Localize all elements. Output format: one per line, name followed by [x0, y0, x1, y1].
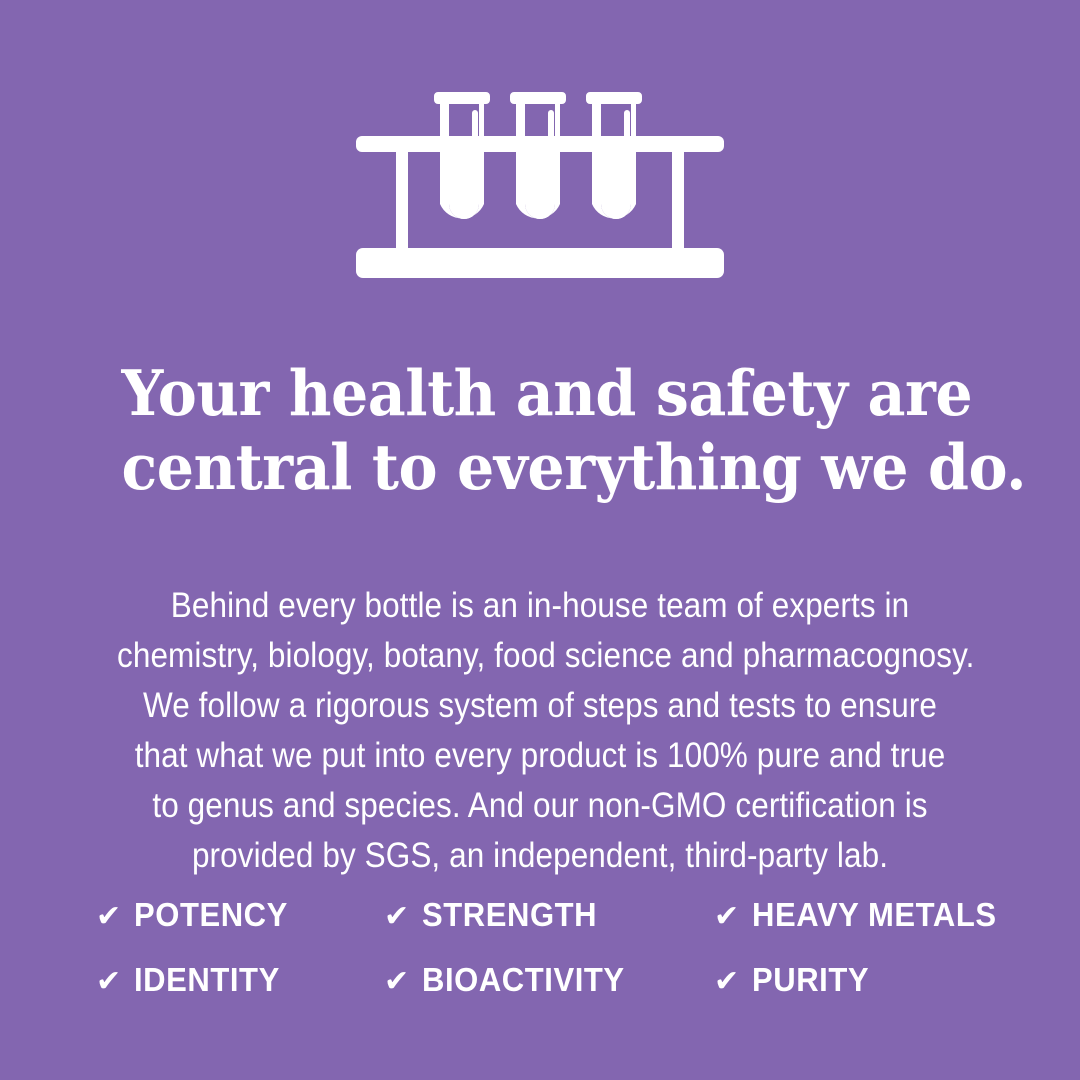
checklist-item-purity: ✔ PURITY — [714, 963, 1008, 997]
checklist-item-bioactivity: ✔ BIOACTIVITY — [384, 963, 714, 997]
headline-line-1: Your health and safety are — [122, 357, 959, 431]
checklist-item-label: STRENGTH — [422, 898, 597, 931]
body-line-3: We follow a rigorous system of steps and… — [117, 681, 963, 731]
body-line-1: Behind every bottle is an in-house team … — [117, 581, 963, 631]
checklist-row: ✔ POTENCY ✔ STRENGTH ✔ HEAVY METALS — [96, 898, 1008, 963]
test-tube-rack-icon — [350, 70, 730, 285]
checklist-item-label: BIOACTIVITY — [422, 963, 625, 996]
checklist-row: ✔ IDENTITY ✔ BIOACTIVITY ✔ PURITY — [96, 963, 1008, 1028]
promo-card: Your health and safety are central to ev… — [0, 0, 1080, 1080]
checklist-item-label: POTENCY — [134, 898, 288, 931]
check-icon: ✔ — [714, 967, 739, 997]
body-paragraph: Behind every bottle is an in-house team … — [117, 581, 963, 881]
checklist-item-heavy-metals: ✔ HEAVY METALS — [714, 898, 1008, 932]
body-line-6: provided by SGS, an independent, third-p… — [117, 831, 963, 881]
headline-line-2: central to everything we do. — [122, 431, 959, 505]
page-title: Your health and safety are central to ev… — [122, 357, 959, 504]
checklist-item-potency: ✔ POTENCY — [96, 898, 384, 932]
checklist-item-label: IDENTITY — [134, 963, 280, 996]
test-checklist: ✔ POTENCY ✔ STRENGTH ✔ HEAVY METALS ✔ ID… — [96, 898, 1008, 1028]
checklist-item-label: PURITY — [752, 963, 869, 996]
check-icon: ✔ — [714, 902, 739, 932]
checklist-item-strength: ✔ STRENGTH — [384, 898, 714, 932]
body-line-2: chemistry, biology, botany, food science… — [117, 631, 963, 681]
check-icon: ✔ — [384, 967, 409, 997]
check-icon: ✔ — [96, 902, 121, 932]
check-icon: ✔ — [96, 967, 121, 997]
checklist-item-label: HEAVY METALS — [752, 898, 997, 931]
body-line-5: to genus and species. And our non-GMO ce… — [117, 781, 963, 831]
checklist-item-identity: ✔ IDENTITY — [96, 963, 384, 997]
body-line-4: that what we put into every product is 1… — [117, 731, 963, 781]
check-icon: ✔ — [384, 902, 409, 932]
